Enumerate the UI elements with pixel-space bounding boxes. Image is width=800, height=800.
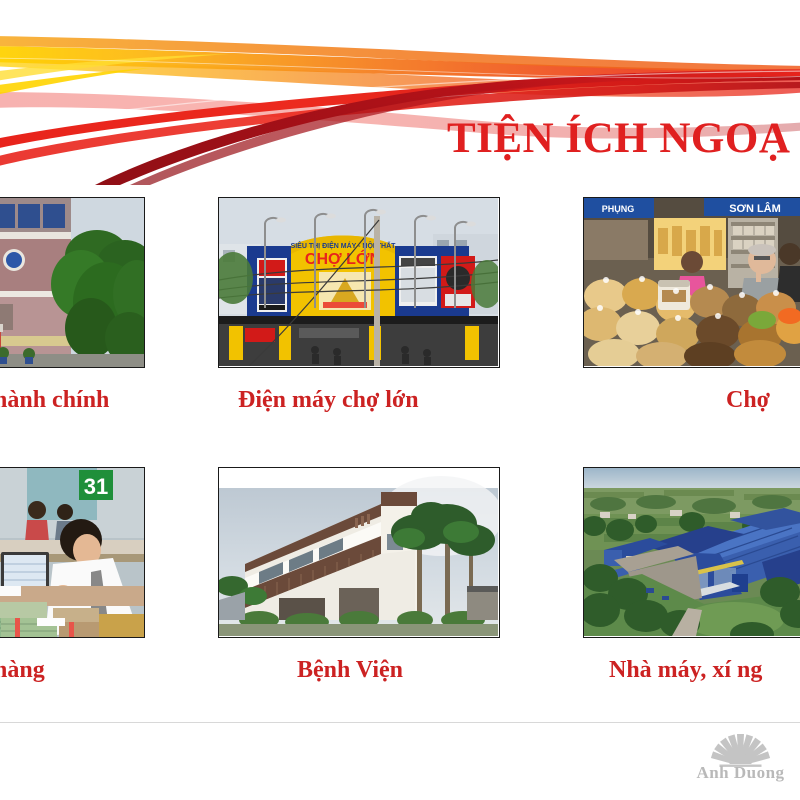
anh-duong-sunrise-logo: Anh Duong [693, 731, 788, 786]
svg-text:31: 31 [84, 474, 108, 499]
svg-text:SƠN LÂM: SƠN LÂM [729, 202, 781, 215]
photo-hanh-chinh [0, 197, 145, 368]
photo-dien-may-cho-lon: SIÊU THỊ ĐIỆN MÁY - NỘI THẤT CHỢ LỚN [218, 197, 500, 368]
footer-divider [0, 722, 800, 723]
logo-text: Anh Duong [693, 764, 788, 781]
presentation-slide: TIỆN ÍCH NGOẠ [0, 0, 800, 800]
photo-cho: PHỤNG SƠN LÂM [583, 197, 800, 368]
photo-nha-may-xi-nghiep [583, 467, 800, 638]
caption-dien-may-cho-lon: Điện máy chợ lớn [238, 388, 419, 412]
caption-ngan-hang: hàng [0, 658, 45, 682]
caption-cho: Chợ [726, 388, 770, 412]
photo-ngan-hang: 31 [0, 467, 145, 638]
photo-benh-vien [218, 467, 500, 638]
caption-hanh-chinh: hành chính [0, 388, 109, 412]
page-title: TIỆN ÍCH NGOẠ [447, 117, 790, 160]
svg-text:PHỤNG: PHỤNG [602, 204, 635, 214]
caption-benh-vien: Bệnh Viện [297, 658, 403, 682]
svg-text:CHỢ LỚN: CHỢ LỚN [305, 249, 381, 268]
caption-nha-may-xi-nghiep: Nhà máy, xí ng [609, 658, 762, 682]
